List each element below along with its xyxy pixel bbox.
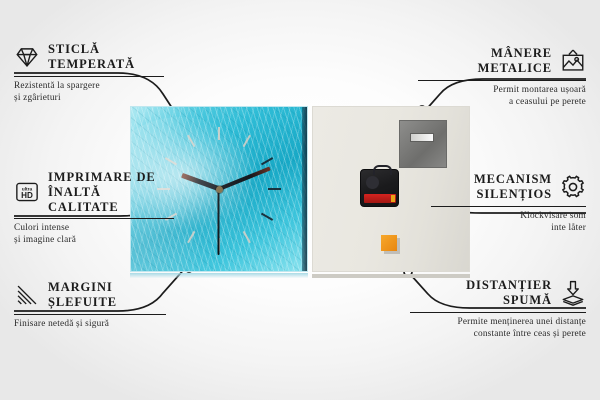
feature-silent-mechanism: MECANISM SILENȚIOS Klockvisare som inte … <box>431 172 586 234</box>
feature-rule <box>14 76 164 77</box>
mechanism-loop <box>373 165 392 175</box>
diamond-icon <box>14 44 40 70</box>
feature-foam-spacer: DISTANȚIER SPUMĂ Permite menținerea unei… <box>410 278 586 340</box>
feature-title-line1: IMPRIMARE DE <box>48 170 156 184</box>
clock-face-shadow <box>130 273 308 278</box>
battery <box>364 194 396 203</box>
feature-sub-line2: și imagine clară <box>14 235 76 245</box>
feature-sub-line1: Culori intense <box>14 223 69 233</box>
feature-sub-line1: Permite menținerea unei distanțe <box>457 317 586 327</box>
feature-sub-line1: Klockvisare som <box>520 211 586 221</box>
clock-mechanism <box>360 169 399 207</box>
feature-rule <box>14 218 174 219</box>
feature-polished-edges: MARGINI ȘLEFUITE Finisare netedă și sigu… <box>14 280 166 330</box>
feature-tempered-glass: STICLĂ TEMPERATĂ Rezistentă la spargere … <box>14 42 164 104</box>
feature-sub-line1: Finisare netedă și sigură <box>14 319 109 329</box>
framed-picture-icon <box>560 48 586 74</box>
feature-rule <box>410 312 586 313</box>
svg-text:HD: HD <box>21 191 33 200</box>
feature-title-line2: METALICE <box>478 61 552 75</box>
feature-sub-line2: constante între ceas și perete <box>474 329 586 339</box>
feature-metal-handles: MÂNERE METALICE Permit montarea ușoară a… <box>418 46 586 108</box>
feature-rule <box>14 314 166 315</box>
feature-title-line2: TEMPERATĂ <box>48 57 135 71</box>
mechanism-dial <box>366 176 379 189</box>
feature-title-line2: ÎNALTĂ CALITATE <box>48 185 119 214</box>
glass-edge <box>302 107 307 271</box>
product-image <box>130 106 470 274</box>
feature-high-quality-print: ultra HD IMPRIMARE DE ÎNALTĂ CALITATE Cu… <box>14 170 174 246</box>
feature-rule <box>418 80 586 81</box>
feature-sub-line2: a ceasului pe perete <box>509 97 586 107</box>
feature-title-line1: STICLĂ <box>48 42 100 56</box>
feature-title-line1: MARGINI <box>48 280 113 294</box>
infographic-canvas: STICLĂ TEMPERATĂ Rezistentă la spargere … <box>0 0 600 400</box>
feature-sub-line2: inte låter <box>551 223 586 233</box>
hour-hand <box>181 173 220 191</box>
feature-title-line2: ȘLEFUITE <box>48 295 117 309</box>
metal-hanger-plate <box>399 120 447 168</box>
feature-title-line2: SILENȚIOS <box>477 187 553 201</box>
ultra-hd-icon: ultra HD <box>14 179 40 205</box>
feature-rule <box>431 206 586 207</box>
feature-title-line1: MECANISM <box>474 172 552 186</box>
feature-sub-line1: Rezistentă la spargere <box>14 81 100 91</box>
feature-sub-line2: și zgârieturi <box>14 93 61 103</box>
feature-sub-line1: Permit montarea ușoară <box>493 85 586 95</box>
center-pin <box>216 186 223 193</box>
press-down-icon <box>560 280 586 306</box>
gear-icon <box>560 174 586 200</box>
feature-title-line2: SPUMĂ <box>503 293 552 307</box>
foam-spacer <box>381 235 397 251</box>
second-hand <box>218 189 220 255</box>
feature-title-line1: MÂNERE <box>491 46 552 60</box>
minute-hand <box>218 167 270 191</box>
feature-title-line1: DISTANȚIER <box>466 278 552 292</box>
polished-edges-icon <box>14 282 40 308</box>
